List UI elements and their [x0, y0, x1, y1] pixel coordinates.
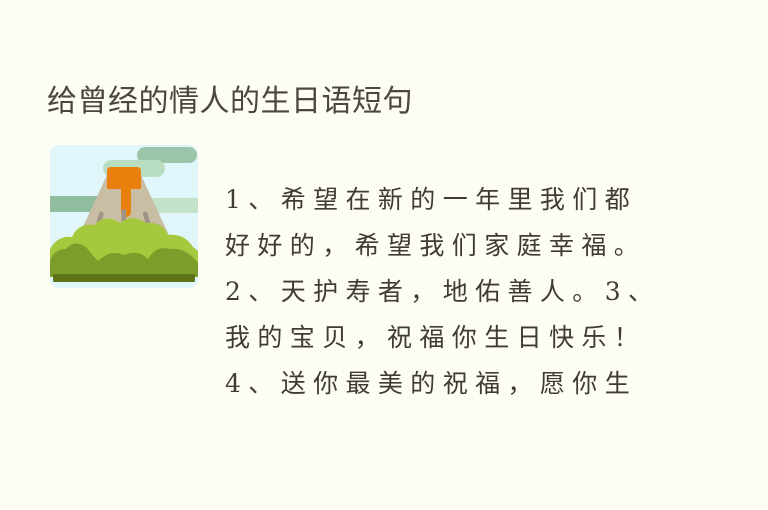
- article-page: 给曾经的情人的生日语短句: [0, 0, 768, 510]
- volcano-icon: [50, 145, 198, 288]
- article-body-text: 1、希望在新的一年里我们都好好的，希望我们家庭幸福。2、天护寿者，地佑善人。3、…: [225, 177, 667, 412]
- article-thumbnail[interactable]: [50, 145, 198, 288]
- page-title: 给曾经的情人的生日语短句: [47, 82, 413, 122]
